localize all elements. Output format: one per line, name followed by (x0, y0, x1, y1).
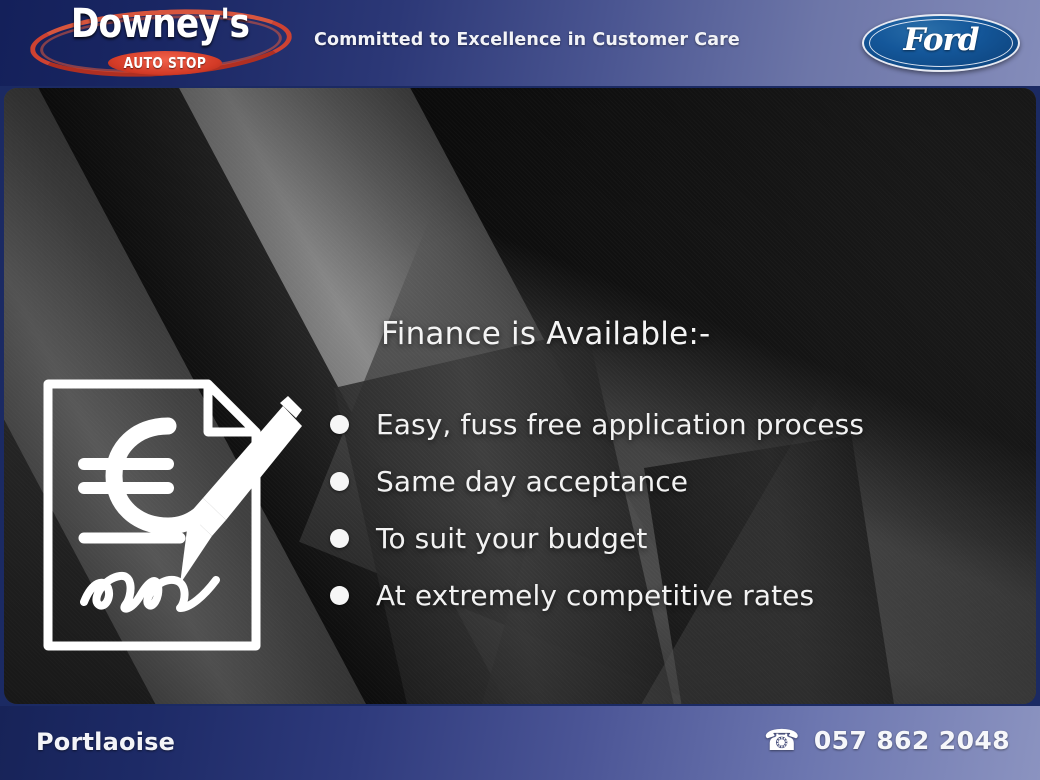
downeys-logo[interactable]: Downey's AUTO STOP (24, 2, 296, 84)
telephone-icon: ☎ (764, 726, 800, 755)
list-item: Easy, fuss free application process (330, 396, 1030, 453)
phone-contact[interactable]: ☎ 057 862 2048 (764, 726, 1010, 755)
header-bar: Downey's AUTO STOP Committed to Excellen… (0, 0, 1040, 86)
list-item-label: Easy, fuss free application process (376, 408, 864, 441)
bullet-dot-icon (330, 472, 349, 491)
header-tagline: Committed to Excellence in Customer Care (314, 30, 740, 50)
list-item-label: At extremely competitive rates (376, 579, 814, 612)
main-panel: Finance is Available:- Easy, fuss free a… (4, 88, 1036, 704)
ford-oval-logo-icon[interactable]: Ford (862, 14, 1020, 72)
document-euro-signature-pen-icon (40, 370, 308, 660)
list-item: At extremely competitive rates (330, 567, 1030, 624)
bullet-dot-icon (330, 529, 349, 548)
phone-number: 057 862 2048 (814, 726, 1010, 755)
list-item: Same day acceptance (330, 453, 1030, 510)
list-item-label: Same day acceptance (376, 465, 688, 498)
advert-page: Downey's AUTO STOP Committed to Excellen… (0, 0, 1040, 780)
list-item: To suit your budget (330, 510, 1030, 567)
list-item-label: To suit your budget (376, 522, 647, 555)
bullet-dot-icon (330, 586, 349, 605)
finance-benefits-list: Easy, fuss free application process Same… (330, 396, 1030, 624)
bullet-dot-icon (330, 415, 349, 434)
footer-bar: Portlaoise ☎ 057 862 2048 (0, 706, 1040, 780)
dealer-name: Downey's (43, 3, 277, 45)
page-title: Finance is Available:- (381, 316, 710, 352)
brand-name: Ford (862, 22, 1020, 58)
dealer-subtitle: AUTO STOP (118, 54, 211, 72)
location-label: Portlaoise (36, 728, 175, 756)
